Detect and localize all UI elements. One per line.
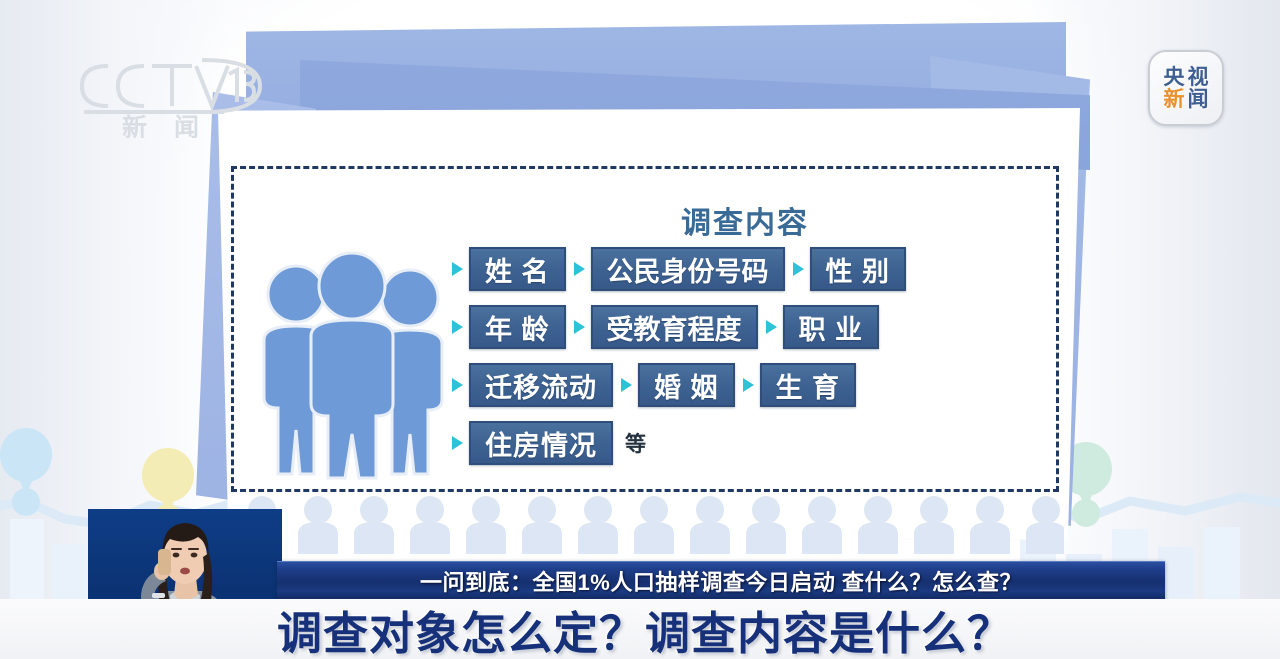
arrow-marker-icon — [452, 320, 463, 334]
survey-item-tag[interactable]: 婚 姻 — [638, 363, 735, 407]
three-people-icon — [248, 248, 458, 480]
tag-row: 住房情况 等 — [452, 417, 1052, 469]
survey-item-tag[interactable]: 职 业 — [783, 305, 880, 349]
tag-row: 迁移流动 婚 姻 生 育 — [452, 359, 1052, 411]
cctv-news-logo: 央 视 新 闻 — [1148, 50, 1224, 126]
logo-char-yang: 央 — [1164, 67, 1185, 88]
arrow-marker-icon — [452, 262, 463, 276]
tag-row: 姓 名 公民身份号码 性 别 — [452, 243, 1052, 295]
logo-char-xin: 新 — [1164, 89, 1185, 110]
arrow-marker-icon — [452, 436, 463, 450]
survey-item-tag[interactable]: 住房情况 — [469, 421, 613, 465]
lower-third-banner: 一问到底：全国1%人口抽样调查今日启动 查什么？怎么查？ — [277, 561, 1165, 601]
logo-char-shi: 视 — [1188, 67, 1209, 88]
arrow-marker-icon — [743, 378, 754, 392]
arrow-marker-icon — [452, 378, 463, 392]
arrow-marker-icon — [621, 378, 632, 392]
crowd-silhouettes — [236, 492, 1064, 554]
cctv-news-logo-bottom-row: 新 闻 — [1164, 89, 1209, 110]
survey-item-tag[interactable]: 生 育 — [760, 363, 857, 407]
banner-text: 一问到底：全国1%人口抽样调查今日启动 查什么？怎么查？ — [420, 565, 1022, 597]
survey-item-tag[interactable]: 姓 名 — [469, 247, 566, 291]
survey-item-tag[interactable]: 受教育程度 — [591, 305, 758, 349]
survey-item-tag[interactable]: 年 龄 — [469, 305, 566, 349]
tag-row: 年 龄 受教育程度 职 业 — [452, 301, 1052, 353]
logo-char-wen: 闻 — [1188, 89, 1209, 110]
broadcast-screen: 调查内容 姓 名 公民身份号码 性 别 年 龄 受教育程 — [0, 0, 1280, 659]
cctv-news-logo-top-row: 央 视 — [1164, 67, 1209, 88]
arrow-marker-icon — [574, 262, 585, 276]
arrow-marker-icon — [766, 320, 777, 334]
headline-text: 调查对象怎么定？调查内容是什么？ — [277, 600, 1177, 658]
survey-content-rows: 姓 名 公民身份号码 性 别 年 龄 受教育程度 职 业 迁移流动 婚 姻 生 … — [452, 243, 1052, 475]
survey-item-tag[interactable]: 公民身份号码 — [591, 247, 785, 291]
survey-item-tag[interactable]: 迁移流动 — [469, 363, 613, 407]
arrow-marker-icon — [574, 320, 585, 334]
etcetera-label: 等 — [625, 428, 646, 458]
graphic-title: 调查内容 — [560, 198, 930, 242]
survey-item-tag[interactable]: 性 别 — [810, 247, 907, 291]
arrow-marker-icon — [793, 262, 804, 276]
